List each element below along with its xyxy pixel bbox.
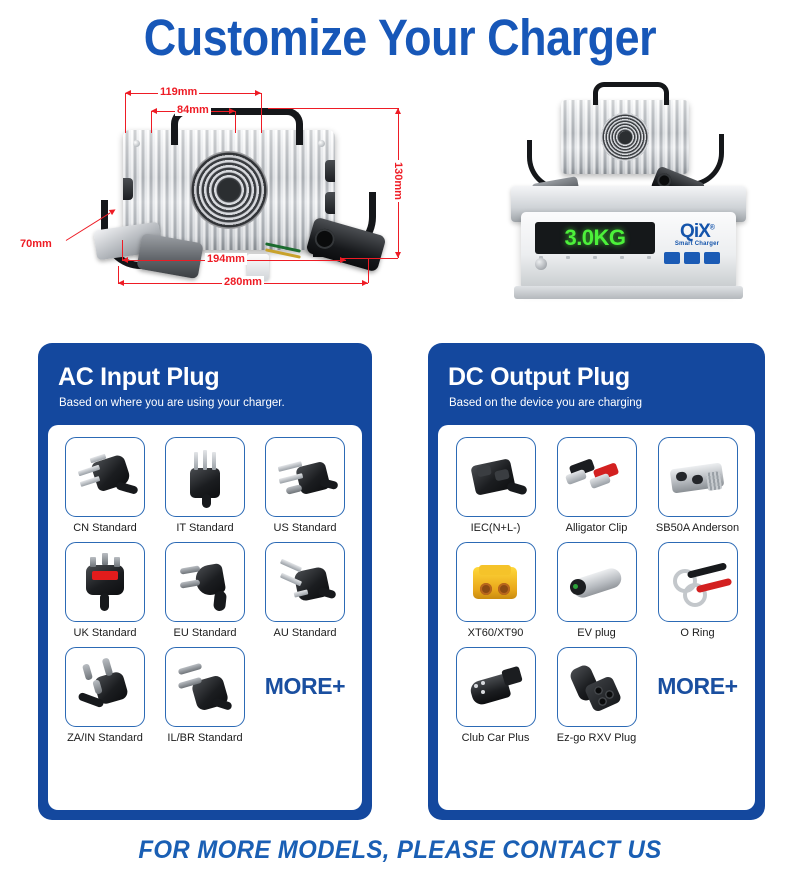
za-in-plug-icon[interactable] — [65, 647, 145, 727]
eu-plug-icon[interactable] — [165, 542, 245, 622]
dimension-label-119mm: 119mm — [158, 86, 199, 98]
weighing-scale-photo: 3.0KG QiX® Smart Charger — [505, 94, 755, 324]
plug-item-club-car[interactable]: Club Car Plus — [448, 647, 543, 744]
brand-registered-mark: ® — [710, 225, 714, 232]
anderson-connector-icon[interactable] — [658, 437, 738, 517]
dc-plug-grid: IEC(N+L-) Alligator Clip — [448, 437, 745, 744]
panel-dc-heading: DC Output Plug — [448, 363, 630, 392]
ac-more-cell[interactable]: MORE+ — [258, 647, 352, 744]
scale-brand-logo: QiX® Smart Charger — [666, 222, 728, 247]
plug-label-it: IT Standard — [176, 522, 233, 534]
plug-label-cn: CN Standard — [73, 522, 137, 534]
plug-label-ezgo-rxv: Ez-go RXV Plug — [557, 732, 636, 744]
scale-fan-icon — [601, 113, 649, 161]
ac-plug-grid: CN Standard IT Standard — [58, 437, 352, 744]
plug-item-alligator[interactable]: Alligator Clip — [549, 437, 644, 534]
infographic-page: Customize Your Charger — [0, 0, 800, 884]
scale-charger-handle — [593, 82, 669, 105]
dimension-label-194mm: 194mm — [205, 253, 247, 265]
au-plug-icon[interactable] — [265, 542, 345, 622]
plug-label-iec: IEC(N+L-) — [471, 522, 521, 534]
brand-tagline: Smart Charger — [666, 241, 728, 247]
dimension-label-84mm: 84mm — [175, 104, 211, 116]
dimension-label-130mm: 130mm — [392, 160, 404, 202]
plug-label-us: US Standard — [274, 522, 337, 534]
scale-display: 3.0KG — [535, 222, 655, 254]
plug-label-au: AU Standard — [274, 627, 337, 639]
panel-ac-heading: AC Input Plug — [58, 363, 219, 392]
xt60-connector-icon[interactable] — [456, 542, 536, 622]
scale-button-3[interactable] — [704, 252, 720, 264]
scale-power-knob[interactable] — [535, 258, 547, 270]
dimension-label-70mm: 70mm — [18, 238, 54, 250]
uk-plug-icon[interactable] — [65, 542, 145, 622]
plug-label-ev: EV plug — [577, 627, 616, 639]
scale-button-2[interactable] — [684, 252, 700, 264]
dc-more-button[interactable]: MORE+ — [657, 647, 737, 725]
plug-label-o-ring: O Ring — [680, 627, 714, 639]
plug-label-club-car: Club Car Plus — [462, 732, 530, 744]
panel-ac-subheading: Based on where you are using your charge… — [59, 397, 285, 409]
dimension-label-280mm: 280mm — [222, 276, 264, 288]
panel-ac-body: CN Standard IT Standard — [48, 425, 362, 810]
footer-contact-text: FOR MORE MODELS, PLEASE CONTACT US — [16, 836, 784, 865]
scale-buttons[interactable] — [664, 252, 720, 264]
plug-item-us[interactable]: US Standard — [258, 437, 352, 534]
o-ring-terminal-icon[interactable] — [658, 542, 738, 622]
plug-label-xt60: XT60/XT90 — [468, 627, 524, 639]
scale-charger-unit — [561, 100, 689, 174]
plug-item-anderson[interactable]: SB50A Anderson — [650, 437, 745, 534]
plug-item-za-in[interactable]: ZA/IN Standard — [58, 647, 152, 744]
panel-dc-subheading: Based on the device you are charging — [449, 397, 642, 409]
club-car-plug-icon[interactable] — [456, 647, 536, 727]
ezgo-rxv-plug-icon[interactable] — [557, 647, 637, 727]
cn-plug-icon[interactable] — [65, 437, 145, 517]
scale-weight-value: 3.0KG — [564, 225, 625, 251]
plug-label-anderson: SB50A Anderson — [656, 522, 739, 534]
scale-button-1[interactable] — [664, 252, 680, 264]
il-br-plug-icon[interactable] — [165, 647, 245, 727]
it-plug-icon[interactable] — [165, 437, 245, 517]
plug-item-uk[interactable]: UK Standard — [58, 542, 152, 639]
panel-dc-output: DC Output Plug Based on the device you a… — [428, 343, 765, 820]
plug-item-ev[interactable]: EV plug — [549, 542, 644, 639]
plug-item-iec[interactable]: IEC(N+L-) — [448, 437, 543, 534]
plug-item-ezgo-rxv[interactable]: Ez-go RXV Plug — [549, 647, 644, 744]
plug-item-cn[interactable]: CN Standard — [58, 437, 152, 534]
plug-item-eu[interactable]: EU Standard — [158, 542, 252, 639]
alligator-clip-icon[interactable] — [557, 437, 637, 517]
plug-label-il-br: IL/BR Standard — [167, 732, 242, 744]
panel-dc-body: IEC(N+L-) Alligator Clip — [438, 425, 755, 810]
page-title: Customize Your Charger — [48, 8, 752, 67]
brand-name: QiX — [680, 221, 710, 242]
dc-more-cell[interactable]: MORE+ — [650, 647, 745, 744]
plug-item-au[interactable]: AU Standard — [258, 542, 352, 639]
plug-item-xt60[interactable]: XT60/XT90 — [448, 542, 543, 639]
ev-plug-icon[interactable] — [557, 542, 637, 622]
iec-connector-icon[interactable] — [456, 437, 536, 517]
plug-item-it[interactable]: IT Standard — [158, 437, 252, 534]
plug-label-uk: UK Standard — [74, 627, 137, 639]
us-plug-icon[interactable] — [265, 437, 345, 517]
scale-base: 3.0KG QiX® Smart Charger — [521, 212, 736, 290]
cooling-fan-icon — [190, 151, 268, 229]
panel-ac-input: AC Input Plug Based on where you are usi… — [38, 343, 372, 820]
ac-more-button[interactable]: MORE+ — [265, 647, 345, 725]
plug-label-za-in: ZA/IN Standard — [67, 732, 143, 744]
plug-label-eu: EU Standard — [174, 627, 237, 639]
plug-item-il-br[interactable]: IL/BR Standard — [158, 647, 252, 744]
plug-label-alligator: Alligator Clip — [566, 522, 628, 534]
plug-item-o-ring[interactable]: O Ring — [650, 542, 745, 639]
scale-indicator-ticks — [539, 256, 651, 259]
hero-product-section: 119mm 84mm 130mm 194mm — [0, 68, 800, 330]
